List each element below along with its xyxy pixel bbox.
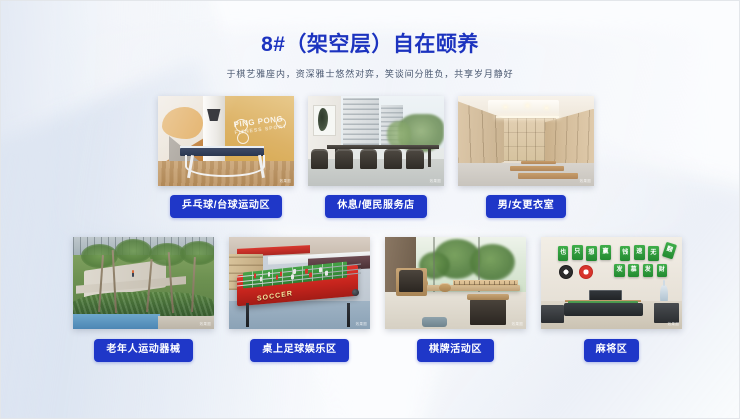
label-elderly-fitness-equipment[interactable]: 老年人运动器械 xyxy=(94,339,192,362)
card-foosball[interactable]: SOCCER 效果图 桌上足球娱乐区 xyxy=(229,237,370,362)
presentation-slide: 8#（架空层）自在颐养 于棋艺雅座内，资深雅士悠然对弈，笑谈间分胜负，共享岁月静… xyxy=(0,0,740,419)
mahjong-wall-tile: 财 xyxy=(657,264,668,277)
ping-pong-room-photo: PING PONG FITNESS SPORT 效果图 xyxy=(158,96,294,186)
photo-watermark: 效果图 xyxy=(200,322,211,327)
photo-watermark: 效果图 xyxy=(356,322,367,327)
card-rest-service[interactable]: 效果图 休息/便民服务店 xyxy=(308,96,444,218)
go-chess-table-photo: 效果图 xyxy=(385,237,526,329)
card-mahjong[interactable]: 也 只 想 赢 钱 速 无 翻 发 慕 发 财 xyxy=(541,237,682,362)
card-elderly-fitness[interactable]: 效果图 老年人运动器械 xyxy=(73,237,214,362)
mahjong-wall-tile: 速 xyxy=(634,245,645,260)
photo-watermark: 效果图 xyxy=(430,179,441,184)
label-changing-rooms[interactable]: 男/女更衣室 xyxy=(486,195,566,218)
page-subtitle: 于棋艺雅座内，资深雅士悠然对弈，笑谈间分胜负，共享岁月静好 xyxy=(1,68,739,81)
page-title: 8#（架空层）自在颐养 xyxy=(1,32,739,58)
bottom-card-row: 效果图 老年人运动器械 xyxy=(73,237,682,362)
mahjong-wall-tile: 慕 xyxy=(628,264,639,277)
mahjong-wall-tile: 想 xyxy=(586,246,597,261)
label-chess-card-area[interactable]: 棋牌活动区 xyxy=(417,339,494,362)
mahjong-wall-tile: 发 xyxy=(614,264,625,277)
label-rest-service-shop[interactable]: 休息/便民服务店 xyxy=(325,195,427,218)
slide-header: 8#（架空层）自在颐养 于棋艺雅座内，资深雅士悠然对弈，笑谈间分胜负，共享岁月静… xyxy=(1,32,739,81)
photo-watermark: 效果图 xyxy=(668,322,679,327)
photo-watermark: 效果图 xyxy=(512,322,523,327)
mahjong-wall-tile: 钱 xyxy=(620,246,631,261)
mahjong-room-photo: 也 只 想 赢 钱 速 无 翻 发 慕 发 财 xyxy=(541,237,682,329)
photo-watermark: 效果图 xyxy=(580,179,591,184)
label-ping-pong-area[interactable]: 乒乓球/台球运动区 xyxy=(170,195,282,218)
card-chess-cards[interactable]: 效果图 棋牌活动区 xyxy=(385,237,526,362)
mahjong-wall-tile: 也 xyxy=(558,246,569,261)
photo-watermark: 效果图 xyxy=(280,179,291,184)
label-table-soccer-area[interactable]: 桌上足球娱乐区 xyxy=(250,339,348,362)
terrace-lounge-photo: 效果图 xyxy=(308,96,444,186)
card-locker-room[interactable]: 效果图 男/女更衣室 xyxy=(458,96,594,218)
mahjong-wall-tile: 只 xyxy=(572,245,583,260)
garden-landscape-photo: 效果图 xyxy=(73,237,214,329)
locker-room-photo: 效果图 xyxy=(458,96,594,186)
foosball-table-photo: SOCCER 效果图 xyxy=(229,237,370,329)
mahjong-wall-tile: 无 xyxy=(648,246,659,261)
top-card-row: PING PONG FITNESS SPORT 效果图 乒乓球/台球运动区 xyxy=(158,96,594,218)
mahjong-wall-tile: 赢 xyxy=(600,245,611,260)
label-mahjong-area[interactable]: 麻将区 xyxy=(584,339,640,362)
mahjong-wall-tile: 发 xyxy=(643,264,654,277)
card-ping-pong[interactable]: PING PONG FITNESS SPORT 效果图 乒乓球/台球运动区 xyxy=(158,96,294,218)
